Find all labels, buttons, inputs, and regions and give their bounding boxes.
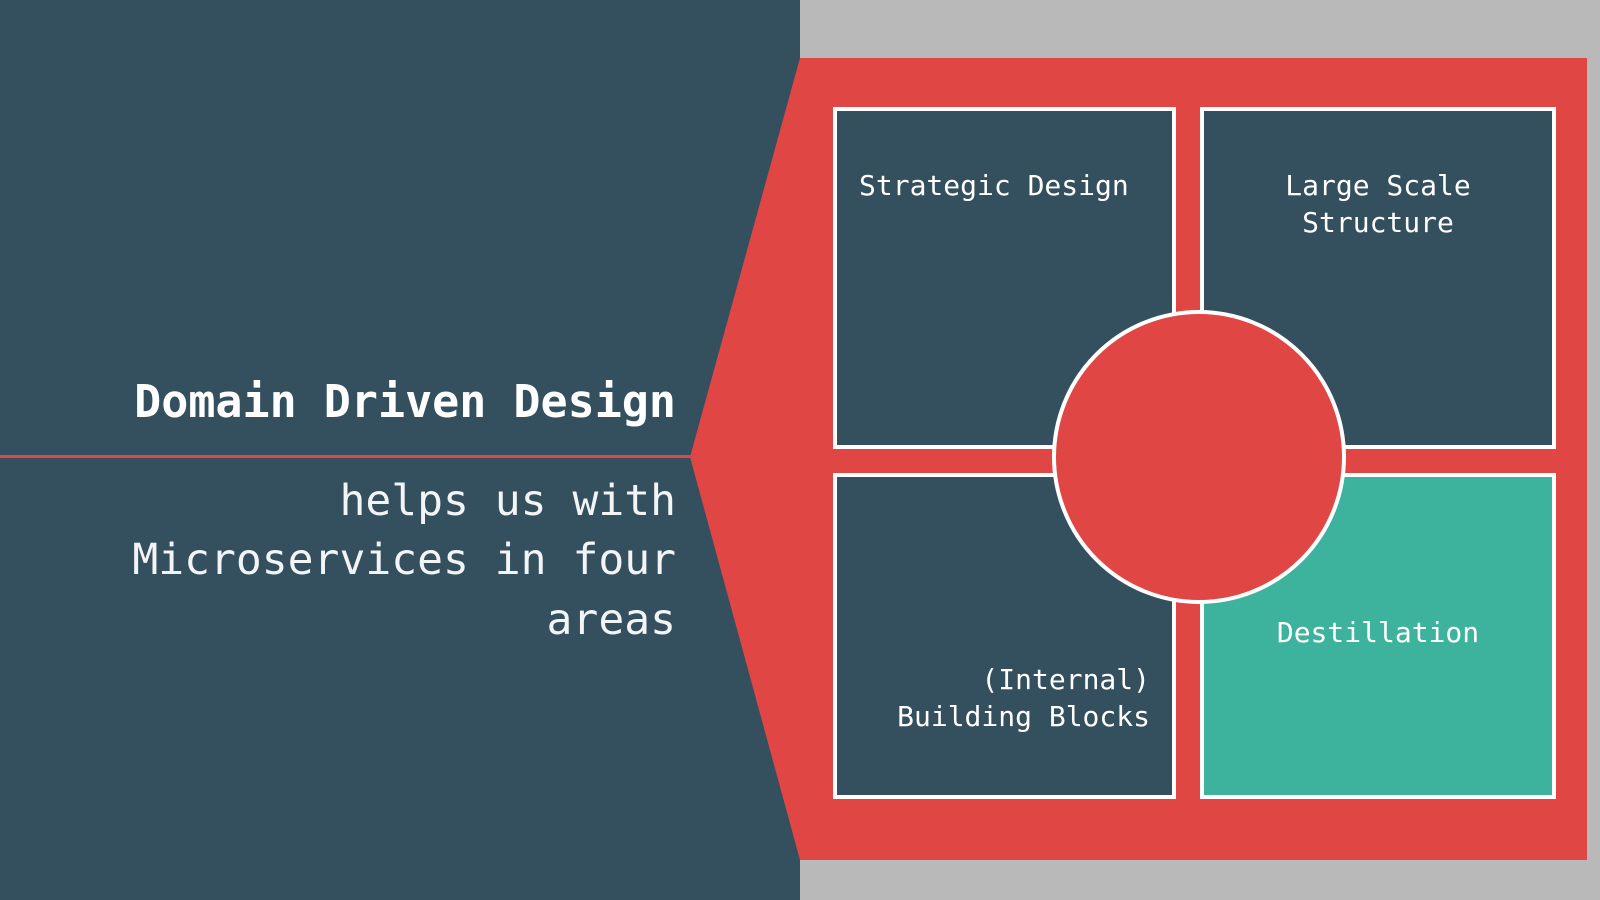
slide-root: Domain Driven Design helps us with Micro… — [0, 0, 1600, 900]
page-subtitle: helps us with Microservices in four area… — [0, 472, 676, 650]
center-hub-circle[interactable] — [1052, 310, 1346, 604]
quadrant-label-internal-building-blocks: (Internal) Building Blocks — [897, 661, 1150, 739]
quadrant-label-large-scale-structure: Large Scale Structure — [1285, 167, 1470, 241]
quadrant-label-strategic-design: Strategic Design — [859, 167, 1129, 204]
left-text-panel: Domain Driven Design helps us with Micro… — [0, 0, 800, 900]
title-underline-rule — [0, 455, 702, 458]
page-title: Domain Driven Design — [0, 378, 676, 425]
quadrant-label-destillation: Destillation — [1277, 614, 1479, 657]
